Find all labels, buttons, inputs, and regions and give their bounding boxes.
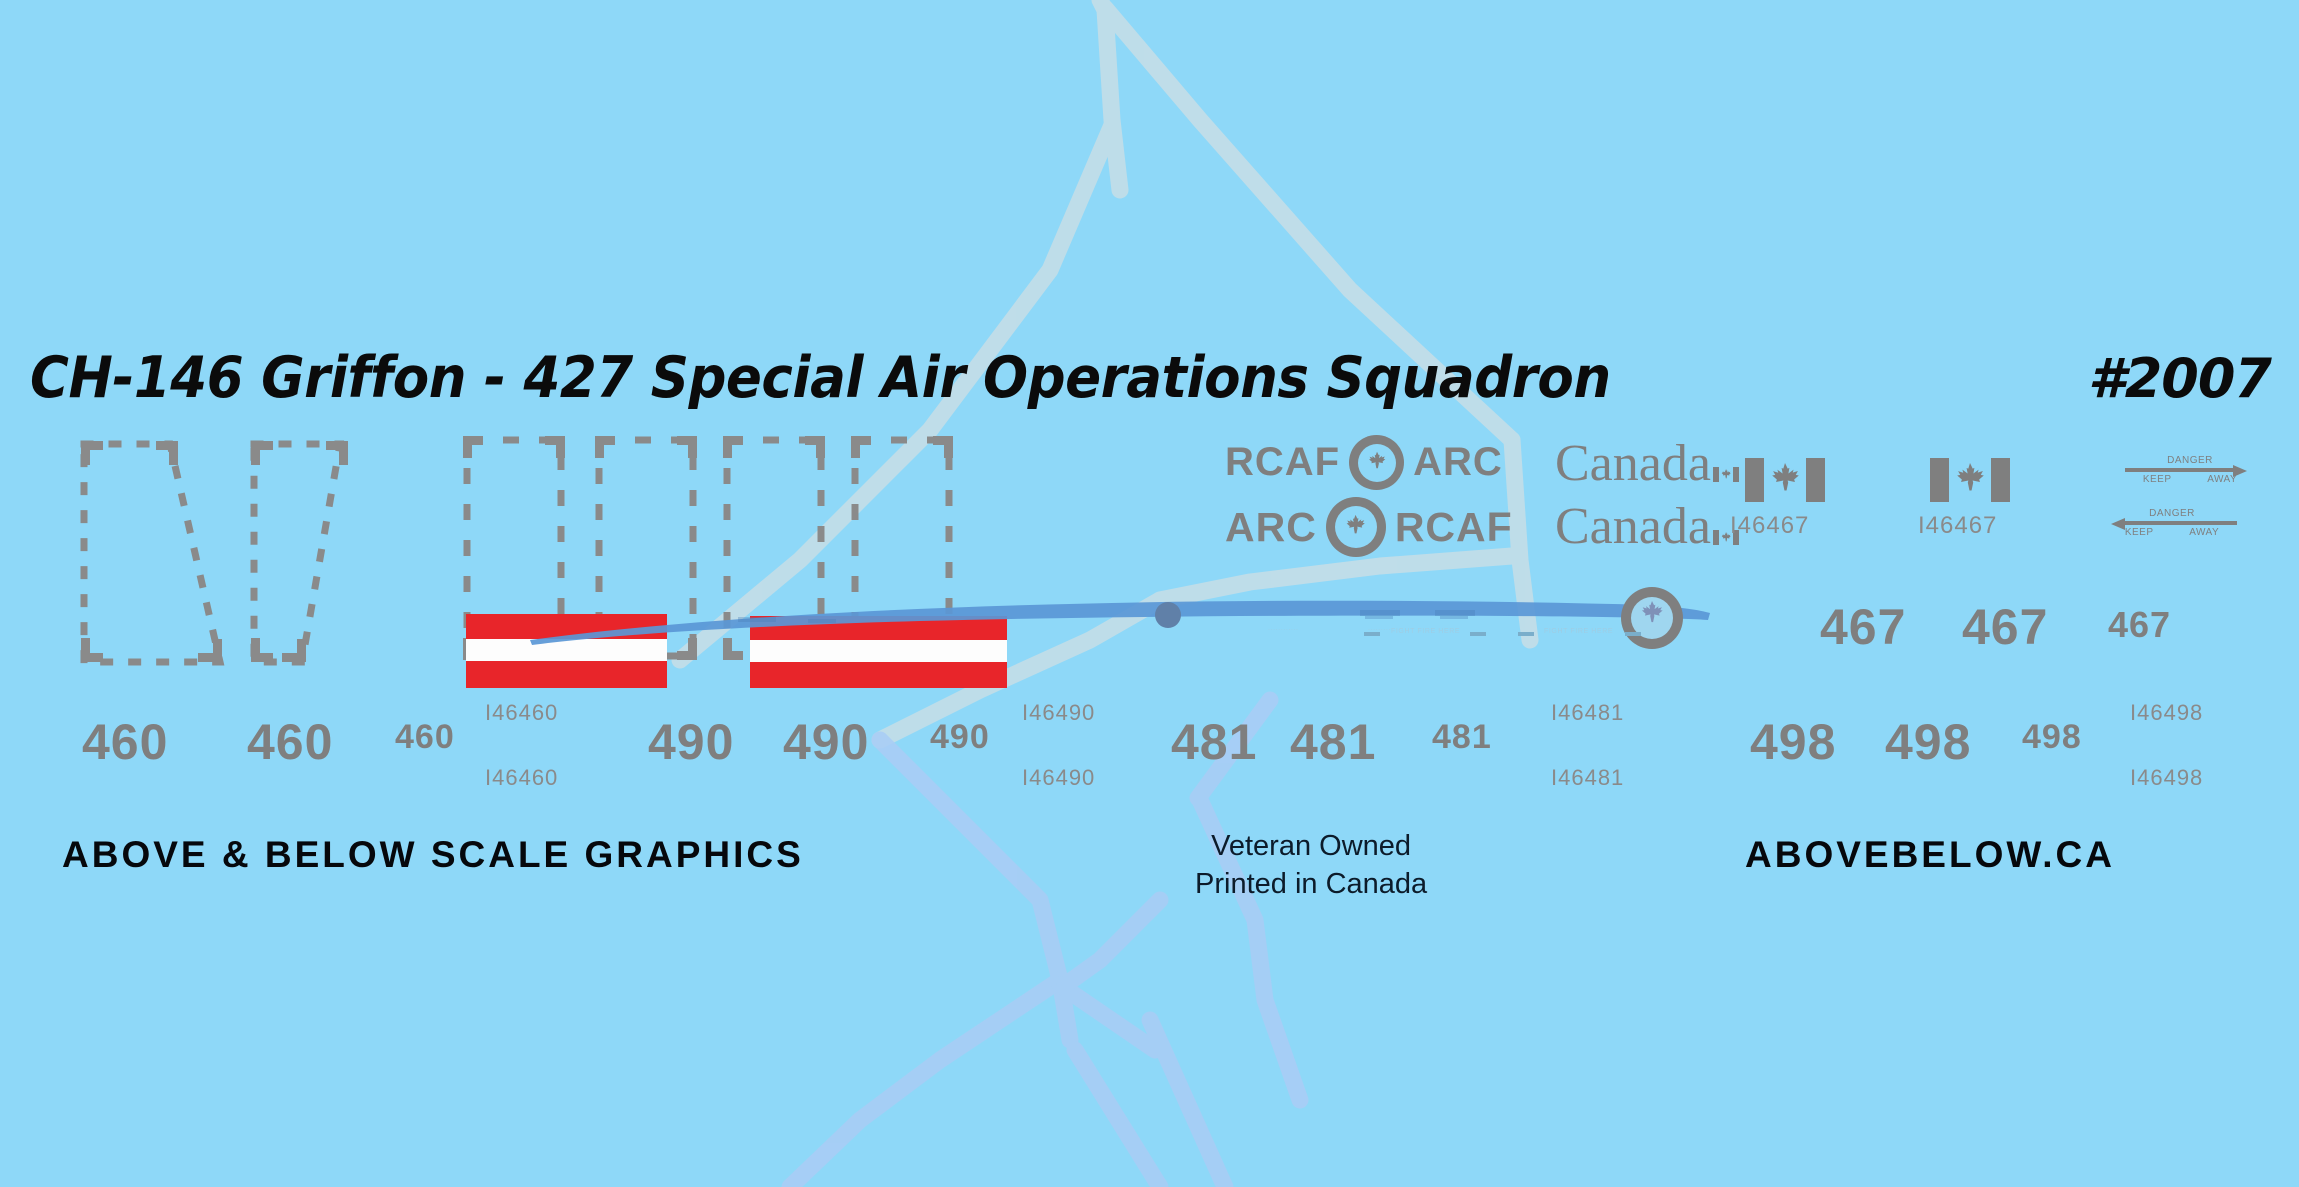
rcaf-wordmark-row-2: ARC RCAF — [1225, 497, 1513, 557]
rcaf-left-label: RCAF — [1225, 440, 1340, 485]
canada-wordmark-text: Canada — [1555, 434, 1711, 493]
serial-460-large-2: 460 — [247, 713, 333, 771]
danger-label: DANGER — [2107, 508, 2237, 519]
danger-keep-away-labels: KEEP AWAY — [2107, 527, 2237, 538]
canada-flag-icon — [1713, 436, 1739, 495]
serial-490-small: 490 — [930, 718, 990, 757]
tiny-stencil-bar — [1470, 632, 1486, 636]
serial-498-large-1: 498 — [1750, 713, 1836, 771]
canada-wordmark-text: Canada — [1555, 497, 1711, 556]
tiny-stencil-bar — [1625, 632, 1641, 636]
canada-flag-icon — [1745, 458, 1825, 502]
canada-flag-icon — [1930, 458, 2010, 502]
tiny-stencil-bar — [1364, 632, 1380, 636]
veteran-owned-line: Veteran Owned — [1195, 827, 1427, 865]
tiny-stencil-1: FIGHT FIRE HERE — [1391, 628, 1460, 635]
serial-481-small: 481 — [1432, 718, 1492, 757]
away-label: AWAY — [2189, 527, 2219, 538]
serial-490-large-2: 490 — [783, 713, 869, 771]
flag-decal-1 — [1745, 458, 1825, 507]
serial-481-stencil-2: I46481 — [1551, 765, 1624, 791]
veteran-footer: Veteran Owned Printed in Canada — [1195, 827, 1427, 903]
serial-467-large-1: 467 — [1820, 598, 1906, 656]
arc-left-label: ARC — [1225, 504, 1317, 551]
tiny-stencil-small-3: ............ — [1268, 625, 1299, 632]
rcaf-wordmark-row-1: RCAF ARC — [1225, 435, 1503, 490]
serial-498-large-2: 498 — [1885, 713, 1971, 771]
serial-490-large-1: 490 — [648, 713, 734, 771]
serial-460-stencil-2: I46460 — [485, 765, 558, 791]
flag-decal-2 — [1930, 458, 2010, 507]
arc-right-label: RCAF — [1395, 504, 1513, 551]
canada-wordmark-2: Canada — [1555, 497, 1739, 558]
website-footer: ABOVEBELOW.CA — [1745, 834, 2115, 876]
flag-decal-serial-2: I46467 — [1918, 512, 1997, 540]
flag-decal-serial-1: I46467 — [1730, 512, 1809, 540]
brand-footer: ABOVE & BELOW SCALE GRAPHICS — [62, 834, 804, 876]
tiny-stencil-small-4: ......... — [1368, 625, 1391, 632]
helicopter-profile-silhouette — [520, 565, 1750, 685]
serial-481-large-2: 481 — [1290, 713, 1376, 771]
serial-481-large-1: 481 — [1171, 713, 1257, 771]
keep-label: KEEP — [2143, 474, 2172, 485]
danger-keep-away-right: DANGER KEEP AWAY — [2125, 455, 2255, 485]
serial-481-stencil-1: I46481 — [1551, 700, 1624, 726]
printed-in-canada-line: Printed in Canada — [1195, 865, 1427, 903]
serial-490-stencil-1: I46490 — [1022, 700, 1095, 726]
serial-460-large-1: 460 — [82, 713, 168, 771]
rcaf-roundel-icon — [1349, 435, 1404, 490]
rcaf-right-label: ARC — [1413, 440, 1503, 485]
dashed-tail-outline-group — [70, 432, 420, 682]
danger-arrow-left-icon — [2107, 520, 2237, 526]
serial-498-stencil-2: I46498 — [2130, 765, 2203, 791]
canada-wordmark-1: Canada — [1555, 434, 1739, 495]
serial-467-small: 467 — [2108, 604, 2171, 646]
danger-keep-away-left: DANGER KEEP AWAY — [2107, 508, 2237, 538]
serial-460-stencil-1: I46460 — [485, 700, 558, 726]
serial-490-stencil-2: I46490 — [1022, 765, 1095, 791]
part-number: #2007 — [2088, 347, 2271, 410]
danger-arrow-right-icon — [2125, 467, 2255, 473]
serial-498-stencil-1: I46498 — [2130, 700, 2203, 726]
decal-sheet: CH-146 Griffon - 427 Special Air Operati… — [0, 0, 2299, 1187]
serial-498-small: 498 — [2022, 718, 2082, 757]
page-title: CH-146 Griffon - 427 Special Air Operati… — [30, 345, 1611, 411]
serial-467-large-2: 467 — [1962, 598, 2048, 656]
tiny-stencil-bar — [1518, 632, 1534, 636]
serial-460-small: 460 — [395, 718, 455, 757]
keep-label: KEEP — [2125, 527, 2154, 538]
rcaf-roundel-icon — [1326, 497, 1386, 557]
tiny-stencil-2: FIGHT FIRE HERE — [1544, 628, 1613, 635]
